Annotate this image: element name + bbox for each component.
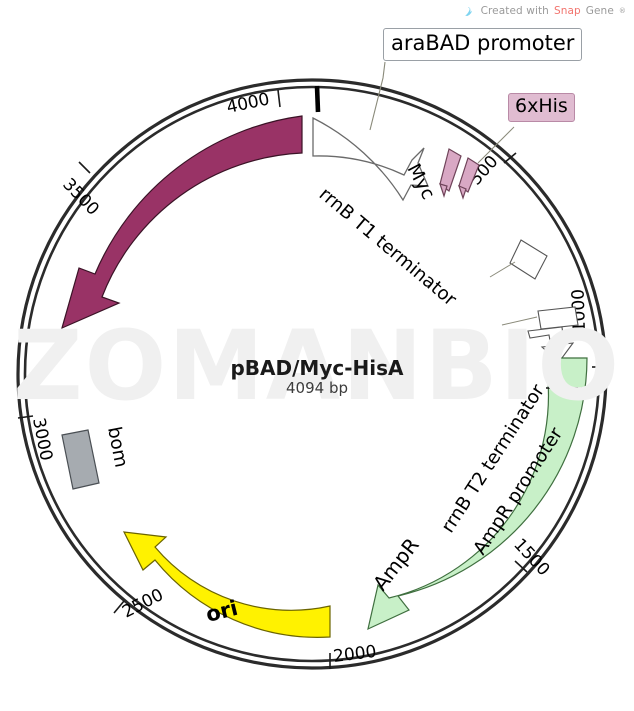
ruler-tick-label: 1500 — [509, 535, 553, 580]
callout-6xhis[interactable]: 6xHis — [508, 93, 575, 122]
plasmid-map: ZOMANBIO 500 1000 — [0, 0, 634, 711]
credit-registered-mark: ® — [619, 7, 626, 15]
ruler-tick-1500: 1500 — [509, 535, 553, 580]
credit-brand-gene: Gene — [586, 5, 614, 17]
feature-arac[interactable]: araC — [62, 107, 302, 328]
credit-prefix: Created with — [481, 5, 549, 17]
feature-bom[interactable]: bom — [62, 425, 132, 489]
origin-tick — [317, 86, 318, 112]
ruler-tick-label: 3000 — [28, 416, 56, 462]
credit-brand-snap: Snap — [554, 5, 581, 17]
ruler-tick-label: 4000 — [225, 89, 271, 118]
snapgene-logo-icon — [463, 5, 476, 18]
feature-unlabeled-box-1[interactable] — [490, 240, 547, 279]
feature-myc[interactable]: Myc — [403, 149, 461, 203]
feature-label-rrnb-t1: rrnB T1 terminator — [315, 184, 461, 311]
feature-label-bom: bom — [103, 425, 131, 469]
ruler-tick-4000: 4000 — [225, 89, 280, 118]
plasmid-name: pBAD/Myc-HisA — [0, 358, 634, 379]
feature-label-ampr: AmpR — [368, 533, 424, 595]
ruler-tick-3500: 3500 — [58, 162, 102, 220]
feature-rrnb-t1-terminator[interactable]: rrnB T1 terminator — [315, 184, 461, 311]
callout-arabad-promoter[interactable]: araBAD promoter — [383, 28, 582, 61]
plasmid-center-label: pBAD/Myc-HisA 4094 bp — [0, 358, 634, 397]
snapgene-credit: Created with SnapGene® — [463, 3, 626, 19]
plasmid-size: 4094 bp — [0, 381, 634, 397]
